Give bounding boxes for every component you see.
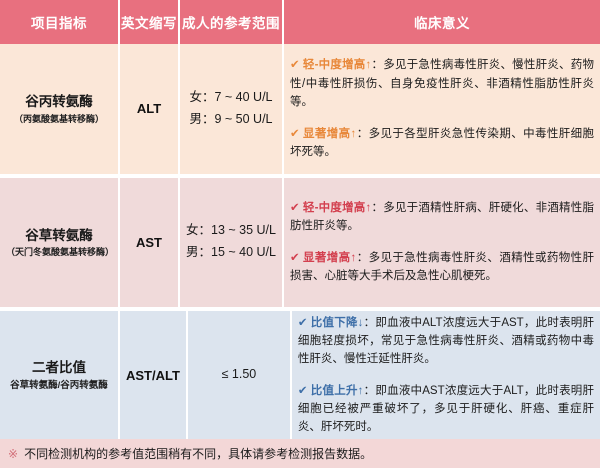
indicator-name-cell: 二者比值 谷草转氨酶/谷丙转氨酶 [0,311,120,439]
bullet-separator: ： [363,317,375,329]
bullet-keyword: 显著增高↑ [303,252,357,264]
indicator-name: 谷丙转氨酶 [14,92,104,112]
clinical-bullet: ✔显著增高↑：多见于急性病毒性肝炎、酒精性或药物性肝损害、心脏等大手术后及急性心… [290,249,594,285]
check-icon: ✔ [298,385,308,397]
indicator-subname: （天门冬氨酸氨基转移酶） [6,247,112,259]
column-header-reference-range: 成人的参考范围 [180,0,284,44]
indicator-name-cell: 谷丙转氨酶 （丙氨酸氨基转移酶） [0,44,120,174]
clinical-significance-cell: ✔比值下降↓：即血液中ALT浓度远大于AST，此时表明肝细胞轻度损坏，常见于急性… [292,311,600,439]
reference-range-text: 女：13 ~ 35 U/L 男：15 ~ 40 U/L [186,220,276,264]
footer-note-text: 不同检测机构的参考值范围稍有不同，具体请参考检测报告数据。 [24,445,372,462]
column-header-indicator: 项目指标 [0,0,120,44]
column-header-abbreviation: 英文缩写 [120,0,180,44]
liver-enzyme-reference-table: 项目指标 英文缩写 成人的参考范围 临床意义 谷丙转氨酶 （丙氨酸氨基转移酶） … [0,0,600,468]
check-icon: ✔ [290,59,300,71]
abbreviation-cell: ALT [120,44,180,174]
clinical-bullet: ✔显著增高↑：多见于各型肝炎急性传染期、中毒性肝细胞坏死等。 [290,125,594,161]
footer-note: ※ 不同检测机构的参考值范围稍有不同，具体请参考检测报告数据。 [0,439,600,468]
check-icon: ✔ [290,252,300,264]
reference-range-cell: 女：13 ~ 35 U/L 男：15 ~ 40 U/L [180,178,284,308]
clinical-bullet: ✔比值下降↓：即血液中ALT浓度远大于AST，此时表明肝细胞轻度损坏，常见于急性… [298,314,594,368]
reference-range-cell: 女：7 ~ 40 U/L 男：9 ~ 50 U/L [180,44,284,174]
indicator-name-cell: 谷草转氨酶 （天门冬氨酸氨基转移酶） [0,178,120,308]
indicator-subname: （丙氨酸氨基转移酶） [14,114,104,126]
bullet-separator: ： [363,385,375,397]
asterisk-icon: ※ [8,447,18,461]
bullet-keyword: 比值下降↓ [311,317,364,329]
indicator-name: 谷草转氨酶 [6,226,112,246]
abbreviation-cell: AST [120,178,180,308]
bullet-keyword: 比值上升↑ [311,385,364,397]
check-icon: ✔ [298,317,308,329]
indicator-subname: 谷草转氨酶/谷丙转氨酶 [10,380,108,392]
table-row: 谷丙转氨酶 （丙氨酸氨基转移酶） ALT 女：7 ~ 40 U/L 男：9 ~ … [0,44,600,174]
table-header-row: 项目指标 英文缩写 成人的参考范围 临床意义 [0,0,600,44]
bullet-keyword: 显著增高↑ [303,128,357,140]
bullet-separator: ： [371,202,383,214]
table-row: 二者比值 谷草转氨酶/谷丙转氨酶 AST/ALT ≤ 1.50 ✔比值下降↓：即… [0,311,600,439]
abbreviation-text: AST [136,235,162,250]
check-icon: ✔ [290,202,300,214]
column-header-clinical-significance: 临床意义 [284,0,600,44]
clinical-bullet: ✔轻-中度增高↑：多见于急性病毒性肝炎、慢性肝炎、药物性/中毒性肝损伤、自身免疫… [290,56,594,110]
reference-range-cell: ≤ 1.50 [188,311,292,439]
check-icon: ✔ [290,128,300,140]
clinical-bullet: ✔比值上升↑：即血液中AST浓度远大于ALT，此时表明肝细胞已经被严重破坏了，多… [298,382,594,436]
bullet-separator: ： [356,252,368,264]
clinical-significance-cell: ✔轻-中度增高↑：多见于急性病毒性肝炎、慢性肝炎、药物性/中毒性肝损伤、自身免疫… [284,44,600,174]
indicator-name: 二者比值 [10,358,108,378]
abbreviation-text: AST/ALT [126,368,180,383]
reference-range-text: 女：7 ~ 40 U/L 男：9 ~ 50 U/L [189,87,272,131]
bullet-keyword: 轻-中度增高↑ [303,202,372,214]
clinical-significance-cell: ✔轻-中度增高↑：多见于酒精性肝病、肝硬化、非酒精性脂肪性肝炎等。 ✔显著增高↑… [284,178,600,308]
bullet-separator: ： [356,128,368,140]
table-row: 谷草转氨酶 （天门冬氨酸氨基转移酶） AST 女：13 ~ 35 U/L 男：1… [0,178,600,308]
bullet-keyword: 轻-中度增高↑ [303,59,372,71]
bullet-separator: ： [371,59,383,71]
abbreviation-text: ALT [137,101,161,116]
clinical-bullet: ✔轻-中度增高↑：多见于酒精性肝病、肝硬化、非酒精性脂肪性肝炎等。 [290,199,594,235]
reference-range-text: ≤ 1.50 [222,364,257,386]
abbreviation-cell: AST/ALT [120,311,188,439]
